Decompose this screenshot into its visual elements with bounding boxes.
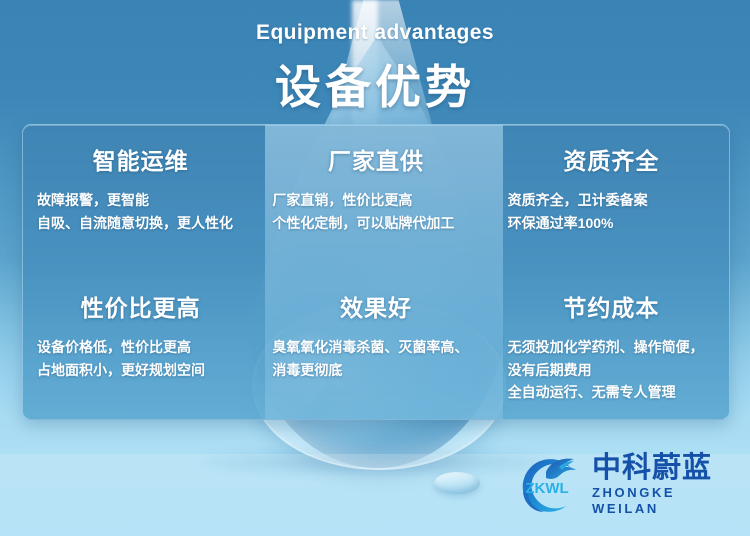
advantage-detail-line: 故障报警，更智能 <box>37 189 244 212</box>
advantage-detail-line: 消毒更彻底 <box>272 359 479 382</box>
advantages-board: 智能运维 故障报警，更智能 自吸、自流随意切换，更人性化 性价比更高 设备价格低… <box>22 124 730 420</box>
advantage-title: 效果好 <box>272 289 479 323</box>
advantage-detail-list: 设备价格低，性价比更高 占地面积小，更好规划空间 <box>37 336 244 381</box>
logo-company-chinese: 中科蔚蓝 <box>592 454 738 484</box>
advantage-detail-line: 个性化定制，可以贴牌代加工 <box>272 212 479 235</box>
advantage-title: 厂家直供 <box>272 142 479 176</box>
advantage-detail-line: 设备价格低，性价比更高 <box>37 336 244 359</box>
advantage-detail-line: 资质齐全，卫计委备案 <box>508 189 715 212</box>
advantage-title: 节约成本 <box>508 289 715 323</box>
advantage-detail-list: 资质齐全，卫计委备案 环保通过率100% <box>508 189 715 234</box>
advantage-card-cost-performance[interactable]: 性价比更高 设备价格低，性价比更高 占地面积小，更好规划空间 <box>37 272 244 419</box>
advantages-column-2: 厂家直供 厂家直销，性价比更高 个性化定制，可以贴牌代加工 效果好 臭氧氧化消毒… <box>258 125 493 419</box>
advantage-card-effectiveness[interactable]: 效果好 臭氧氧化消毒杀菌、灭菌率高、 消毒更彻底 <box>272 272 479 419</box>
advantage-card-intelligent-ops[interactable]: 智能运维 故障报警，更智能 自吸、自流随意切换，更人性化 <box>37 125 244 272</box>
advantage-detail-line: 没有后期费用 <box>508 359 715 382</box>
advantage-detail-list: 臭氧氧化消毒杀菌、灭菌率高、 消毒更彻底 <box>272 336 479 381</box>
advantage-detail-list: 厂家直销，性价比更高 个性化定制，可以贴牌代加工 <box>272 189 479 234</box>
advantage-title: 智能运维 <box>37 142 244 176</box>
advantage-detail-list: 故障报警，更智能 自吸、自流随意切换，更人性化 <box>37 189 244 234</box>
advantage-detail-line: 厂家直销，性价比更高 <box>272 189 479 212</box>
advantages-column-3: 资质齐全 资质齐全，卫计委备案 环保通过率100% 节约成本 无须投加化学药剂、… <box>494 125 729 419</box>
advantage-title: 性价比更高 <box>37 289 244 323</box>
advantage-detail-line: 环保通过率100% <box>508 212 715 235</box>
company-logo[interactable]: ZKWL 中科蔚蓝 ZHONGKE WEILAN <box>516 450 738 520</box>
logo-company-english: ZHONGKE WEILAN <box>592 485 738 516</box>
advantage-detail-line: 全自动运行、无需专人管理 <box>508 381 715 404</box>
poster-header: Equipment advantages 设备优势 <box>0 0 750 117</box>
advantage-card-qualifications[interactable]: 资质齐全 资质齐全，卫计委备案 环保通过率100% <box>508 125 715 272</box>
advantage-title: 资质齐全 <box>508 142 715 176</box>
title-chinese: 设备优势 <box>0 45 750 117</box>
dolphin-swirl-icon: ZKWL <box>516 452 588 518</box>
advantage-detail-line: 占地面积小，更好规划空间 <box>37 359 244 382</box>
logo-wordmark: 中科蔚蓝 ZHONGKE WEILAN <box>592 454 738 517</box>
advantages-column-1: 智能运维 故障报警，更智能 自吸、自流随意切换，更人性化 性价比更高 设备价格低… <box>23 125 258 419</box>
poster-canvas: Equipment advantages 设备优势 智能运维 故障报警，更智能 … <box>0 0 750 536</box>
advantage-detail-line: 自吸、自流随意切换，更人性化 <box>37 212 244 235</box>
advantage-card-factory-direct[interactable]: 厂家直供 厂家直销，性价比更高 个性化定制，可以贴牌代加工 <box>272 125 479 272</box>
advantage-detail-line: 臭氧氧化消毒杀菌、灭菌率高、 <box>272 336 479 359</box>
advantage-card-cost-saving[interactable]: 节约成本 无须投加化学药剂、操作简便， 没有后期费用 全自动运行、无需专人管理 <box>508 272 715 419</box>
title-english: Equipment advantages <box>0 0 750 45</box>
advantage-detail-list: 无须投加化学药剂、操作简便， 没有后期费用 全自动运行、无需专人管理 <box>508 336 715 404</box>
advantage-detail-line: 无须投加化学药剂、操作简便， <box>508 336 715 359</box>
small-water-droplet <box>434 472 480 494</box>
svg-text:ZKWL: ZKWL <box>525 480 568 497</box>
droplet-shadow <box>196 448 556 476</box>
